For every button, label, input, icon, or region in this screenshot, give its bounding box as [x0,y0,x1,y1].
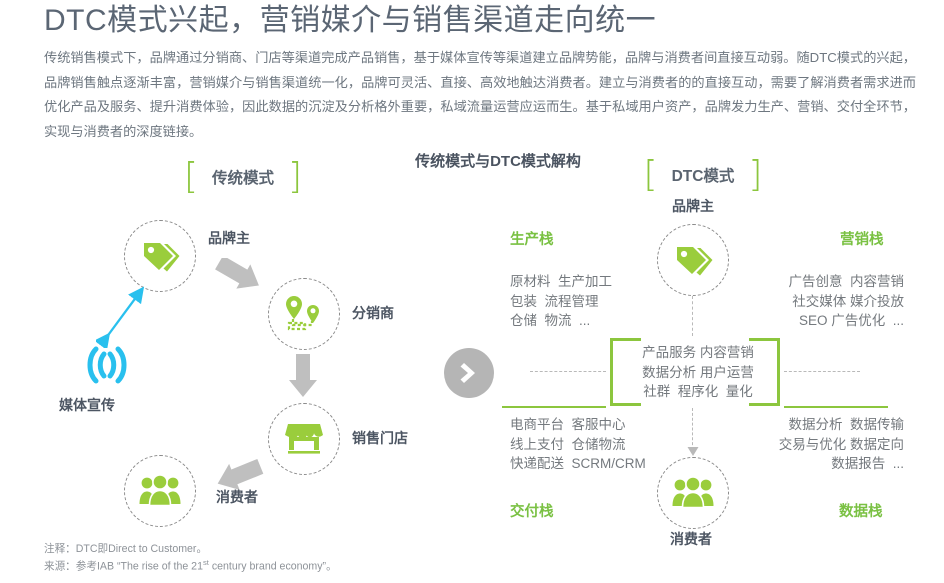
box-corner-rule [749,403,777,406]
connector-brand-to-center [692,296,693,336]
bidirectional-arrow-icon [96,284,156,348]
footnote-source-post: century brand economy”。 [209,561,337,573]
bracket-left-icon: [ [644,160,658,190]
dtc-brand-owner-label: 品牌主 [660,196,726,216]
footnote-source-label: 来源： [44,561,76,573]
body-paragraph: 传统销售模式下，品牌通过分销商、门店等渠道完成产品销售，基于媒体宣传等渠道建立品… [44,46,916,144]
connector-right-dashed [784,371,860,372]
dtc-consumer-label: 消费者 [655,529,727,549]
people-icon [672,476,714,510]
node-retail-store [268,403,340,475]
arrow-store-to-consumer-icon [204,453,266,497]
node-brand-owner [124,220,196,292]
down-arrow-icon [686,444,700,458]
bracket-right-icon: ] [288,162,302,192]
arrow-brand-to-distributor-icon [214,258,270,304]
traditional-mode-pill: [ 传统模式 ] [168,160,318,194]
dtc-core-capabilities-box: 产品服务 内容营销 数据分析 用户运营 社群 程序化 量化 [610,338,780,406]
connector-left-dashed [530,371,606,372]
broadcast-signal-icon [80,345,134,385]
stack-text-marketing: 广告创意 内容营销 社交媒体 媒介投放 SEO 广告优化 ... [744,272,904,331]
page-title: DTC模式兴起，营销媒介与销售渠道走向统一 [44,2,914,40]
stack-title-data: 数据栈 [839,500,883,521]
dtc-node-brand-owner [657,224,729,296]
box-corner-rule [613,338,641,341]
node-label-retail-store: 销售门店 [352,428,408,448]
divider-delivery-rule [502,406,606,408]
dtc-mode-pill: [ DTC模式 ] [628,158,778,192]
stack-title-production: 生产栈 [510,228,554,249]
location-pins-icon [283,294,325,334]
node-label-media-promotion: 媒体宣传 [59,395,115,415]
stack-text-delivery: 电商平台 客服中心 线上支付 仓储物流 快递配送 SCRM/CRM [510,415,646,474]
traditional-mode-label: 传统模式 [212,166,274,188]
dtc-core-capabilities-text: 产品服务 内容营销 数据分析 用户运营 社群 程序化 量化 [613,343,783,402]
arrow-distributor-to-store-icon [286,352,320,400]
slide-root: DTC模式兴起，营销媒介与销售渠道走向统一 传统销售模式下，品牌通过分销商、门店… [0,0,944,583]
box-corner-rule [749,338,777,341]
transition-chevron-icon [444,348,494,398]
tag-icon [673,240,713,280]
footnote-source: 来源：参考IAB “The rise of the 21st century b… [44,556,337,574]
node-consumer [124,455,196,527]
dtc-node-consumer [657,457,729,529]
footnote-source-pre: 参考IAB “The rise of the 21 [76,561,203,573]
dtc-mode-label: DTC模式 [672,164,735,186]
stack-title-delivery: 交付栈 [510,500,554,521]
footnote-note-text: DTC即Direct to Customer。 [76,543,207,555]
node-label-brand-owner: 品牌主 [208,228,250,248]
box-corner-rule [613,403,641,406]
stack-text-production: 原材料 生产加工 包装 流程管理 仓储 物流 ... [510,272,612,331]
bracket-right-icon: ] [748,160,762,190]
footnote-note: 注释：DTC即Direct to Customer。 [44,542,207,556]
storefront-icon [284,420,324,458]
stack-text-data: 数据分析 数据传输 交易与优化 数据定向 数据报告 ... [744,415,904,474]
node-label-distributor: 分销商 [352,303,394,323]
node-distributor [268,278,340,350]
stack-title-marketing: 营销栈 [840,228,884,249]
tag-icon [140,236,180,276]
bracket-left-icon: [ [184,162,198,192]
people-icon [139,474,181,508]
divider-data-rule [784,406,888,408]
diagram-heading: 传统模式与DTC模式解构 [358,150,638,171]
footnote-note-label: 注释： [44,543,76,555]
